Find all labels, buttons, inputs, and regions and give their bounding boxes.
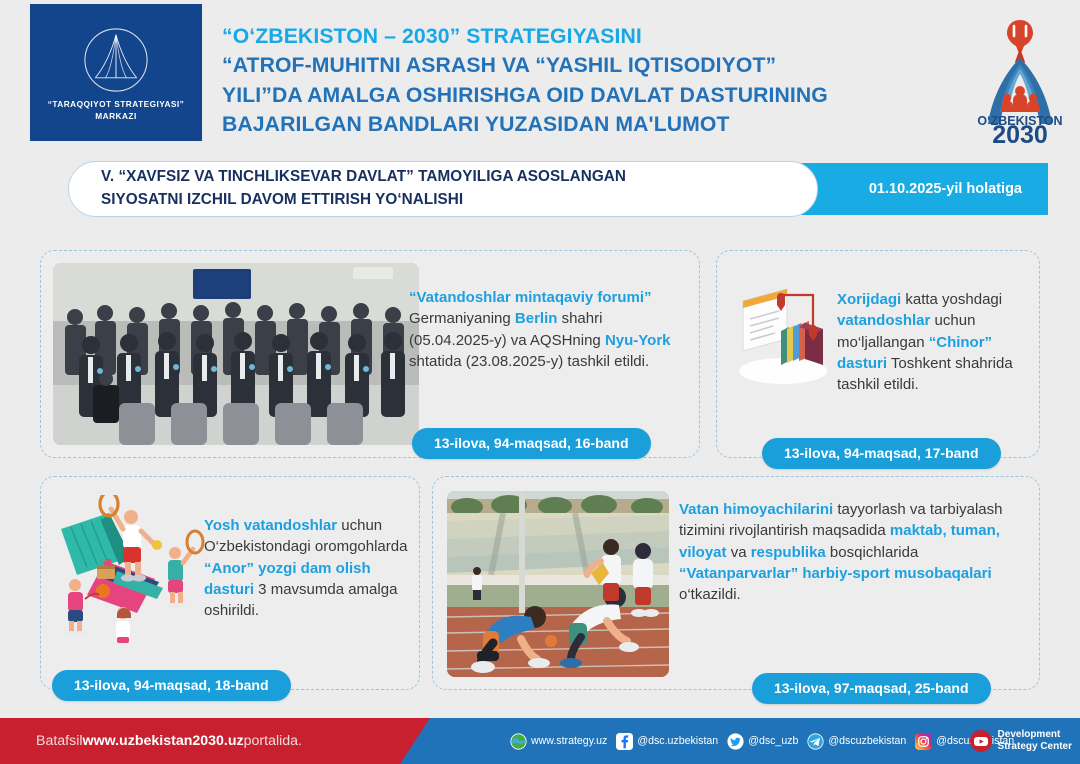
dsc-line-1: Development (998, 729, 1072, 741)
books-document-icon (725, 279, 837, 397)
badge-card-anor: 13-ilova, 94-maqsad, 18-band (52, 670, 291, 701)
dsc-line-2: Strategy Center (998, 741, 1072, 753)
social-label-twitter: @dsc_uzb (748, 735, 798, 747)
player-tennis-2 (166, 531, 203, 609)
facebook-icon (616, 733, 633, 750)
portal-prefix: Batafsil (36, 733, 83, 749)
portal-suffix: portalida. (244, 733, 302, 749)
social-label-facebook: @dsc.uzbekistan (637, 735, 718, 747)
card-chinor: Xorijdagi katta yoshdagi vatandoshlar uc… (716, 250, 1040, 458)
youtube-play-icon (969, 729, 993, 753)
camp-sports-icon (47, 495, 207, 643)
portal-note: Batafsil www.uzbekistan2030.uz portalida… (36, 718, 302, 764)
page-title: “O‘ZBEKISTON – 2030” STRATEGIYASINI “ATR… (222, 22, 972, 139)
instagram-icon (915, 733, 932, 750)
logo-caption-line2: MARKAZI (95, 111, 136, 122)
section-title-line-1: V. “XAVFSIZ VA TINCHLIKSEVAR DAVLAT” TAM… (101, 166, 817, 189)
social-link-twitter[interactable]: @dsc_uzb (727, 733, 798, 750)
section-band: 01.10.2025-yil holatiga V. “XAVFSIZ VA T… (68, 163, 1048, 215)
globe-icon (510, 733, 527, 750)
section-title: V. “XAVFSIZ VA TINCHLIKSEVAR DAVLAT” TAM… (68, 161, 818, 217)
social-link-telegram[interactable]: @dscuzbekistan (807, 733, 906, 750)
taraqqiyot-strategiyasi-logo: “TARAQQIYOT STRATEGIYASI” MARKAZI (30, 4, 202, 141)
brand-year-text: 2030 (992, 121, 1048, 144)
page-title-line-4: BAJARILGAN BANDLARI YUZASIDAN MA'LUMOT (222, 110, 972, 139)
card-forum-text: “Vatandoshlar mintaqaviy forumi” Germani… (409, 287, 687, 372)
badge-card-chinor: 13-ilova, 94-maqsad, 17-band (762, 438, 1001, 469)
card-vatanparvarlar-text: Vatan himoyachilarini tayyorlash va tarb… (679, 499, 1027, 605)
twitter-icon (727, 733, 744, 750)
card-anor-text: Yosh vatandoshlar uchun O‘zbekistondagi … (204, 515, 410, 621)
page-title-line-2: “ATROF-MUHITNI ASRASH VA “YASHIL IQTISOD… (222, 51, 972, 80)
footer: Batafsil www.uzbekistan2030.uz portalida… (0, 718, 1080, 764)
card-anor: Yosh vatandoshlar uchun O‘zbekistondagi … (40, 476, 420, 690)
strategy-center-emblem-icon (79, 23, 153, 97)
portal-url[interactable]: www.uzbekistan2030.uz (83, 733, 244, 749)
group-photo-forum (53, 263, 419, 445)
section-title-line-2: SIYOSATNI IZCHIL DAVOM ETTIRISH YO‘NALIS… (101, 189, 817, 212)
badge-card-vatanparvarlar: 13-ilova, 97-maqsad, 25-band (752, 673, 991, 704)
social-label-website: www.strategy.uz (531, 735, 607, 747)
badge-card-forum: 13-ilova, 94-maqsad, 16-band (412, 428, 651, 459)
card-chinor-text: Xorijdagi katta yoshdagi vatandoshlar uc… (837, 289, 1033, 395)
social-link-website[interactable]: www.strategy.uz (510, 733, 607, 750)
uzbekistan-2030-logo: O‘ZBEKISTON 2030 (974, 12, 1066, 144)
social-label-telegram: @dscuzbekistan (828, 735, 906, 747)
development-strategy-center-logo[interactable]: Development Strategy Center (969, 718, 1072, 764)
logo-caption-line1: “TARAQQIYOT STRATEGIYASI” (48, 99, 184, 110)
player-child (116, 607, 131, 643)
far-athlete (472, 567, 482, 600)
page-title-line-1: “O‘ZBEKISTON – 2030” STRATEGIYASINI (222, 22, 972, 51)
header: “TARAQQIYOT STRATEGIYASI” MARKAZI “O‘ZBE… (0, 0, 1080, 150)
social-links: www.strategy.uz @dsc.uzbekistan @dsc_uzb… (510, 718, 1014, 764)
stadium-athletes-photo (447, 491, 669, 677)
card-forum: “Vatandoshlar mintaqaviy forumi” Germani… (40, 250, 700, 458)
page-title-line-3: YILI”DA AMALGA OSHIRISHGA OID DAVLAT DAS… (222, 81, 972, 110)
card-vatanparvarlar: Vatan himoyachilarini tayyorlash va tarb… (432, 476, 1040, 690)
social-link-facebook[interactable]: @dsc.uzbekistan (616, 733, 718, 750)
telegram-icon (807, 733, 824, 750)
player-ball (65, 579, 110, 637)
